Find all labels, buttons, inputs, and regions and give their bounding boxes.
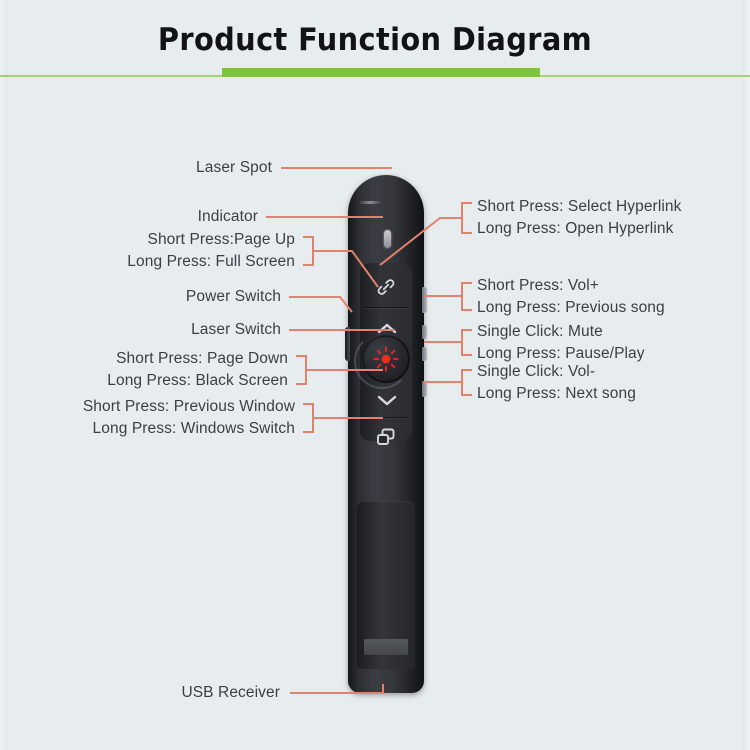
side-button-volume-down[interactable]: [422, 381, 427, 397]
chevron-up-icon: [376, 322, 396, 333]
link-icon: [375, 276, 397, 298]
diagram-canvas: Product Function Diagram: [0, 0, 750, 750]
callout-volume-down: Single Click: Vol- Long Press: Next song: [477, 361, 636, 405]
callout-line: Short Press:Page Up: [127, 229, 295, 251]
callout-power-switch: Power Switch: [186, 286, 281, 308]
leader-page-down-bracket: [296, 356, 306, 384]
callout-laser-spot: Laser Spot: [196, 157, 272, 179]
side-button-volume-up[interactable]: [422, 287, 427, 313]
presenter-remote: [348, 175, 424, 693]
button-divider: [364, 307, 408, 308]
header-rule-accent: [222, 68, 540, 77]
callout-line: Laser Switch: [191, 319, 281, 341]
side-button-mute-lower[interactable]: [422, 347, 427, 361]
leader-volume-down-bracket: [462, 370, 472, 395]
left-edge-strip: [0, 0, 8, 750]
callout-hyperlink: Short Press: Select Hyperlink Long Press…: [477, 196, 681, 240]
indicator-led: [384, 230, 391, 248]
callout-laser-switch: Laser Switch: [191, 319, 281, 341]
callout-usb-receiver: USB Receiver: [181, 682, 280, 704]
leader-mute-bracket: [462, 330, 472, 355]
leader-window-switch-bracket: [303, 404, 313, 432]
callout-line: Power Switch: [186, 286, 281, 308]
callout-window-switch: Short Press: Previous Window Long Press:…: [83, 396, 295, 440]
callout-page-down: Short Press: Page Down Long Press: Black…: [107, 348, 288, 392]
laser-burst-icon: [373, 346, 399, 372]
callout-line: Long Press: Next song: [477, 383, 636, 405]
callout-line: Laser Spot: [196, 157, 272, 179]
windows-switch-icon: [375, 427, 397, 447]
callout-line: Long Press: Open Hyperlink: [477, 218, 681, 240]
callout-line: Long Press: Windows Switch: [83, 418, 295, 440]
chevron-down-icon: [376, 394, 396, 405]
hyperlink-button[interactable]: [362, 267, 410, 307]
callout-line: Long Press: Previous song: [477, 297, 665, 319]
side-button-mute[interactable]: [422, 325, 427, 339]
callout-line: Short Press: Previous Window: [83, 396, 295, 418]
callout-line: Single Click: Mute: [477, 321, 645, 343]
callout-line: USB Receiver: [181, 682, 280, 704]
callout-mute: Single Click: Mute Long Press: Pause/Pla…: [477, 321, 645, 365]
header: Product Function Diagram: [0, 0, 750, 90]
callout-line: Short Press: Select Hyperlink: [477, 196, 681, 218]
window-switch-button[interactable]: [362, 418, 410, 456]
callout-line: Short Press: Page Down: [107, 348, 288, 370]
callout-line: Indicator: [198, 206, 258, 228]
leader-hyperlink-bracket: [462, 203, 472, 233]
right-edge-strip: [742, 0, 750, 750]
leader-page-up-bracket: [303, 237, 313, 265]
page-down-button[interactable]: [362, 381, 410, 417]
callout-line: Short Press: Vol+: [477, 275, 665, 297]
callout-indicator: Indicator: [198, 206, 258, 228]
device-top-highlight: [358, 201, 382, 204]
callout-line: Long Press: Full Screen: [127, 251, 295, 273]
laser-switch-button[interactable]: [362, 335, 410, 383]
callout-volume-up: Short Press: Vol+ Long Press: Previous s…: [477, 275, 665, 319]
callout-line: Single Click: Vol-: [477, 361, 636, 383]
usb-receiver-slot: [364, 639, 408, 655]
page-title: Product Function Diagram: [26, 22, 724, 58]
side-button-power[interactable]: [345, 327, 350, 361]
leader-power-switch: [289, 297, 352, 312]
callout-line: Long Press: Black Screen: [107, 370, 288, 392]
leader-volume-up-bracket: [462, 283, 472, 310]
callout-page-up: Short Press:Page Up Long Press: Full Scr…: [127, 229, 295, 273]
